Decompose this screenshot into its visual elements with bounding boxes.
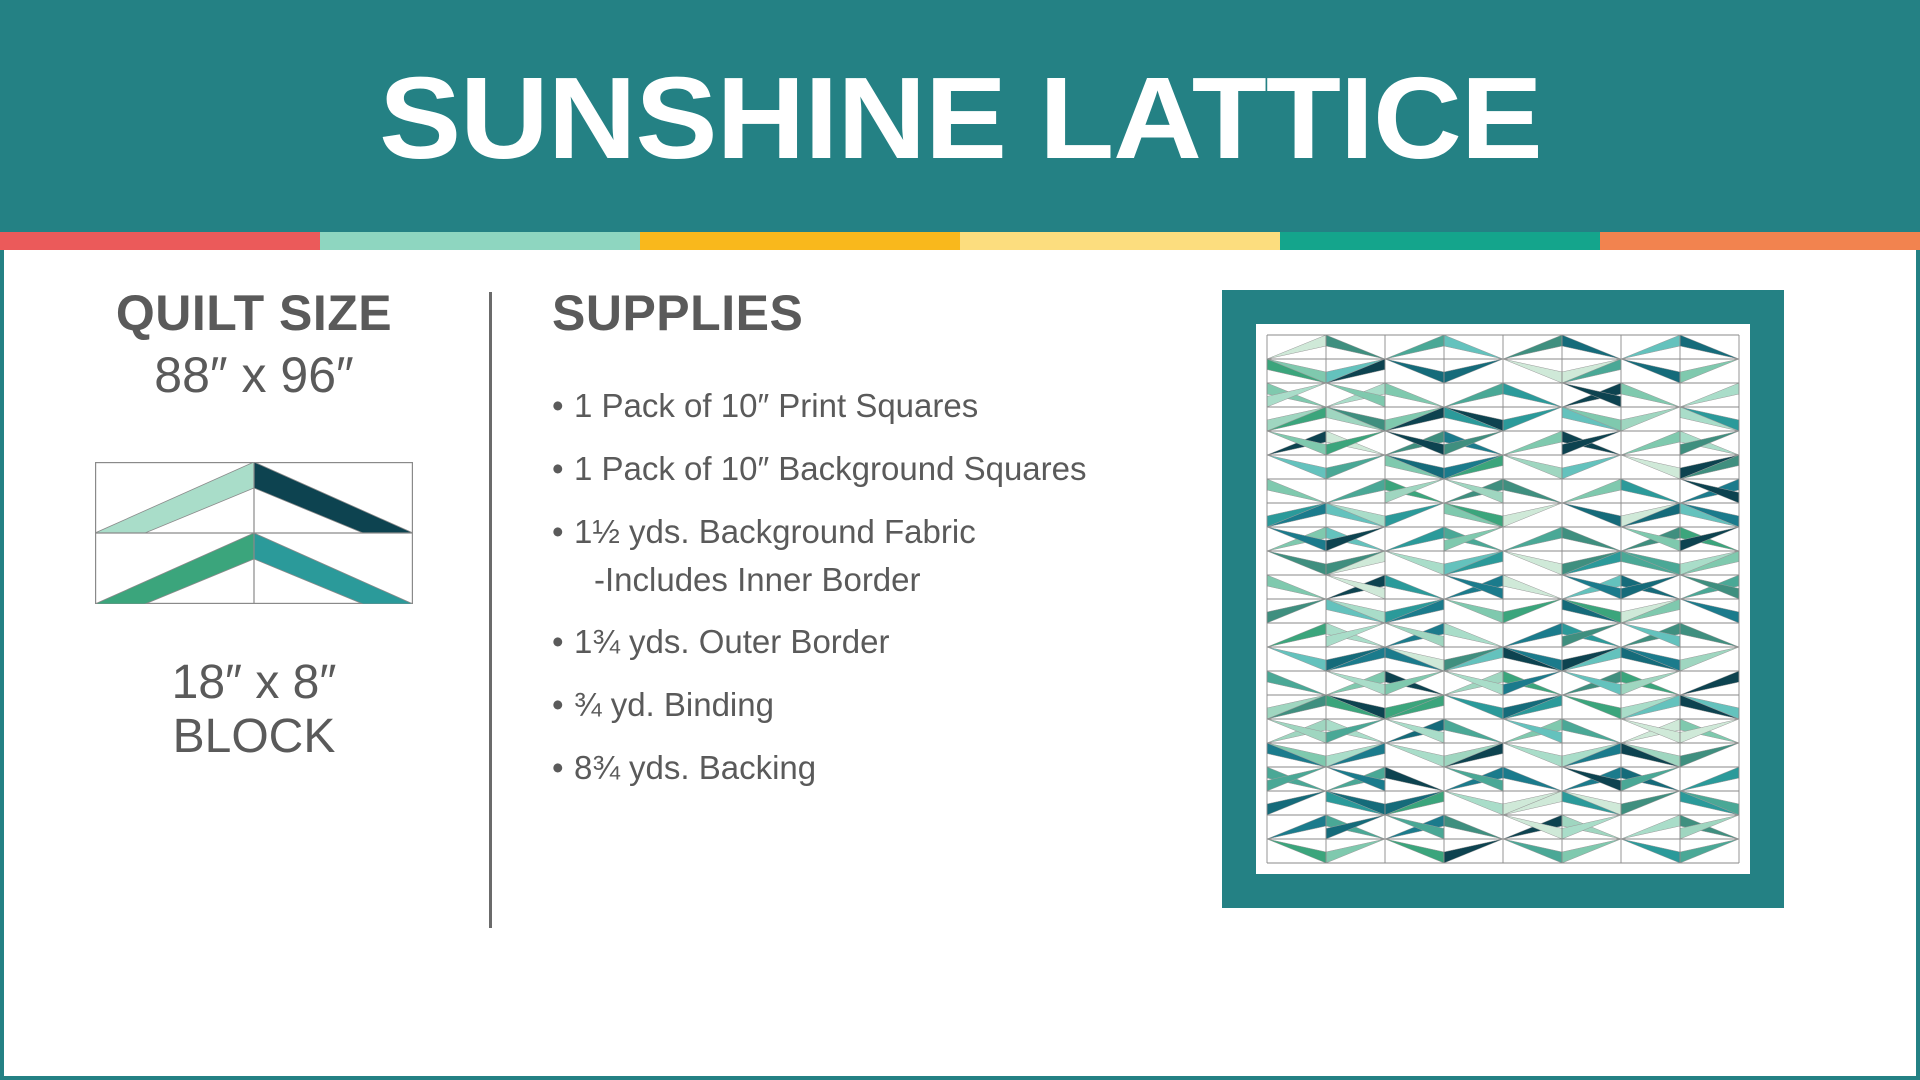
block-size-label: 18″ x 8″ BLOCK xyxy=(44,656,464,764)
supplies-list-item: •¾ yd. Binding xyxy=(552,681,1172,729)
content-area: QUILT SIZE 88″ x 96″ 18″ x 8″ BLOCK xyxy=(0,250,1920,1080)
pattern-info-sheet: SUNSHINE LATTICE QUILT SIZE 88″ x 96″ xyxy=(0,0,1920,1080)
stripe-golden-yellow xyxy=(640,232,960,250)
block-size-word: BLOCK xyxy=(44,710,464,764)
supplies-list-item: •1¾ yds. Outer Border xyxy=(552,618,1172,666)
supplies-item-text: ¾ yd. Binding xyxy=(574,686,774,723)
bullet-glyph: • xyxy=(552,618,564,666)
supplies-item-text: 8¾ yds. Backing xyxy=(574,749,816,786)
color-stripe-bar xyxy=(0,232,1920,250)
supplies-item-subnote: -Includes Inner Border xyxy=(574,556,1172,604)
stripe-coral-red xyxy=(0,232,320,250)
supplies-list-item: •1½ yds. Background Fabric-Includes Inne… xyxy=(552,508,1172,604)
supplies-column: SUPPLIES •1 Pack of 10″ Print Squares•1 … xyxy=(552,288,1172,807)
bullet-glyph: • xyxy=(552,382,564,430)
supplies-list: •1 Pack of 10″ Print Squares•1 Pack of 1… xyxy=(552,382,1172,792)
stripe-light-yellow xyxy=(960,232,1280,250)
column-divider xyxy=(489,292,492,928)
quilt-size-column: QUILT SIZE 88″ x 96″ 18″ x 8″ BLOCK xyxy=(44,288,464,764)
supplies-item-text: 1 Pack of 10″ Background Squares xyxy=(574,450,1087,487)
quilt-size-heading: QUILT SIZE xyxy=(44,288,464,338)
bullet-glyph: • xyxy=(552,744,564,792)
page-title: SUNSHINE LATTICE xyxy=(379,60,1542,176)
supplies-item-text: 1½ yds. Background Fabric xyxy=(574,513,976,550)
stripe-orange xyxy=(1600,232,1920,250)
bullet-glyph: • xyxy=(552,445,564,493)
bullet-glyph: • xyxy=(552,508,564,556)
bullet-glyph: • xyxy=(552,681,564,729)
stripe-mint-green xyxy=(320,232,640,250)
stripe-teal-green xyxy=(1280,232,1600,250)
supplies-list-item: •1 Pack of 10″ Background Squares xyxy=(552,445,1172,493)
quilt-size-value: 88″ x 96″ xyxy=(44,350,464,400)
supplies-list-item: •8¾ yds. Backing xyxy=(552,744,1172,792)
supplies-list-item: •1 Pack of 10″ Print Squares xyxy=(552,382,1172,430)
supplies-heading: SUPPLIES xyxy=(552,288,1172,338)
block-diagram xyxy=(95,462,413,604)
quilt-preview-image xyxy=(1222,290,1784,908)
supplies-item-text: 1¾ yds. Outer Border xyxy=(574,623,889,660)
supplies-item-text: 1 Pack of 10″ Print Squares xyxy=(574,387,978,424)
header-banner: SUNSHINE LATTICE xyxy=(0,0,1920,232)
block-size-dimensions: 18″ x 8″ xyxy=(44,656,464,710)
